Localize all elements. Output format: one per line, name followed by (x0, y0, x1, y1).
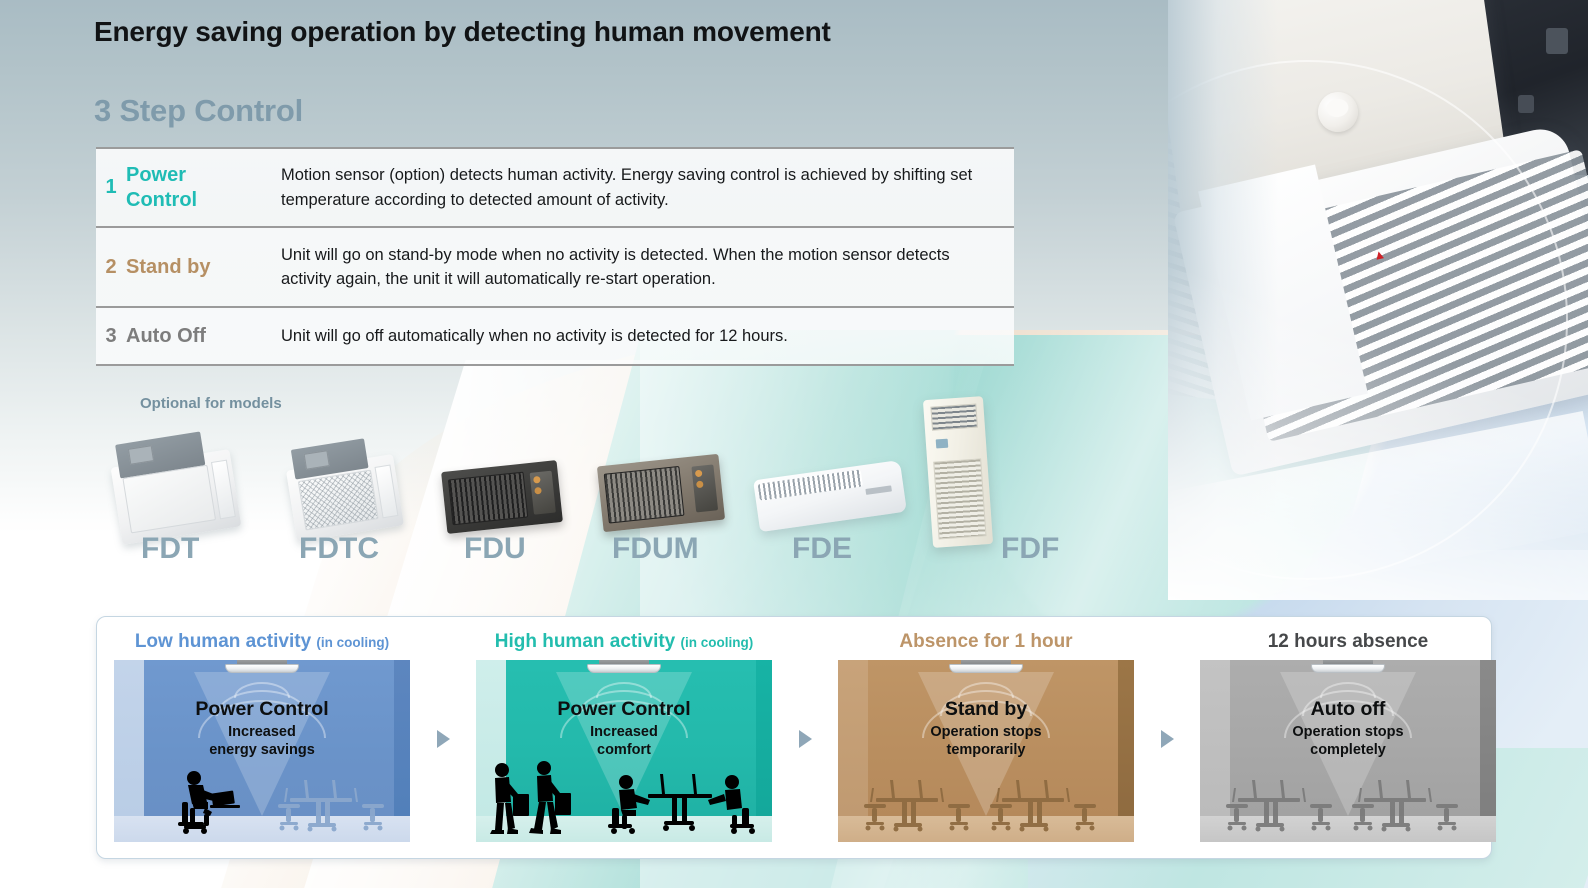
room-labels: Power Control Increased comfort (476, 698, 772, 760)
scenario-heading-note: (in cooling) (681, 635, 754, 650)
room-illustration: Auto off Operation stops completely (1200, 660, 1496, 842)
scenario-heading: Low human activity (in cooling) (97, 617, 427, 653)
unit-fan-grille (448, 472, 528, 526)
scenario-heading-text: Absence for 1 hour (899, 631, 1072, 652)
scenario-heading-text: 12 hours absence (1268, 631, 1429, 652)
scenario-effect-line1: Increased (114, 724, 410, 742)
empty-desks-silhouette-icon (276, 776, 396, 834)
unit-cassette-4way-icon (111, 449, 242, 545)
model-name: FDTC (299, 532, 379, 566)
ceiling-unit-panel (225, 664, 299, 673)
model-name: FDUM (612, 532, 699, 566)
unit-pipe-connections (530, 471, 556, 515)
model-name: FDU (464, 532, 526, 566)
room-labels: Stand by Operation stops temporarily (838, 698, 1134, 760)
model-name: FDF (1001, 532, 1059, 566)
ceiling-cassette-product-photo: ▲ (1168, 0, 1588, 600)
flow-arrow-2 (789, 617, 821, 860)
scenario-heading: Absence for 1 hour (821, 617, 1151, 653)
people-walking-silhouette-icon (484, 760, 594, 836)
room-illustration: Power Control Increased comfort (476, 660, 772, 842)
scenario-mode: Auto off (1200, 698, 1496, 720)
unit-intake-vent (758, 469, 863, 500)
scenario-heading-text: High human activity (495, 631, 676, 652)
arrow-right-icon (799, 730, 812, 748)
unit-floor-standing-icon (923, 396, 993, 548)
empty-desks-silhouette-icon (988, 776, 1108, 834)
scenario-heading-text: Low human activity (135, 631, 311, 652)
table-row: 2 Stand by Unit will go on stand-by mode… (96, 226, 1014, 306)
table-row: 1 Power Control Motion sensor (option) d… (96, 147, 1014, 226)
unit-duct-mid-static-icon (597, 454, 725, 532)
poster-canvas: ▲ Energy saving operation by detecting h… (0, 0, 1588, 888)
step-description: Unit will go off automatically when no a… (281, 324, 1014, 348)
scenario-card-absence-1-hour: Absence for 1 hour (821, 617, 1151, 842)
scenario-card-low-activity: Low human activity (in cooling) (97, 617, 427, 842)
scenario-heading: High human activity (in cooling) (459, 617, 789, 653)
scenario-effect-line2: temporarily (838, 742, 1134, 760)
person-seated-silhouette-icon (172, 768, 248, 834)
scenario-mode: Power Control (476, 698, 772, 720)
empty-desks-silhouette-icon (862, 776, 982, 834)
ceiling-unit-icon (225, 660, 299, 672)
unit-side-vent (375, 464, 399, 518)
scenario-effect-line2: completely (1200, 742, 1496, 760)
photo-vignette (1168, 0, 1588, 600)
step-number: 1 (96, 176, 126, 199)
model-name: FDE (792, 532, 852, 566)
empty-desks-silhouette-icon (1224, 776, 1344, 834)
step-title: Auto Off (126, 324, 281, 348)
people-at-desk-silhouette-icon (604, 768, 756, 836)
room-labels: Auto off Operation stops completely (1200, 698, 1496, 760)
step-title: Stand by (126, 255, 281, 279)
page-title: Energy saving operation by detecting hum… (94, 16, 831, 48)
step-description: Unit will go on stand-by mode when no ac… (281, 243, 1014, 292)
unit-fan-grille (604, 466, 685, 524)
room-illustration: Stand by Operation stops temporarily (838, 660, 1134, 842)
scenario-sequence-panel: Low human activity (in cooling) (96, 616, 1492, 859)
unit-face-panel (122, 465, 216, 534)
room-labels: Power Control Increased energy savings (114, 698, 410, 760)
ceiling-unit-icon (1311, 660, 1385, 672)
scenario-mode: Power Control (114, 698, 410, 720)
compatible-models-strip: FDT FDTC FDU FDUM (96, 400, 1096, 560)
scenario-effect-line2: energy savings (114, 742, 410, 760)
ceiling-unit-panel (949, 664, 1023, 673)
model-name: FDT (141, 532, 199, 566)
scenario-effect-line1: Increased (476, 724, 772, 742)
scenario-effect-line1: Operation stops (1200, 724, 1496, 742)
ceiling-unit-icon (949, 660, 1023, 672)
table-row: 3 Auto Off Unit will go off automaticall… (96, 306, 1014, 366)
unit-brand-mark-icon (865, 485, 892, 495)
step-number: 2 (96, 256, 126, 279)
unit-ceiling-suspended-icon (753, 460, 907, 532)
scenario-effect-line2: comfort (476, 742, 772, 760)
ceiling-unit-panel (1311, 664, 1385, 673)
unit-mesh-filter (298, 470, 379, 531)
room-illustration: Power Control Increased energy savings (114, 660, 410, 842)
three-step-control-table: 1 Power Control Motion sensor (option) d… (96, 147, 1014, 366)
unit-display-icon (936, 439, 949, 449)
empty-desks-silhouette-icon (1350, 776, 1470, 834)
ceiling-unit-icon (587, 660, 661, 672)
scenario-effect-line1: Operation stops (838, 724, 1134, 742)
scenario-card-high-activity: High human activity (in cooling) (459, 617, 789, 842)
flow-arrow-1 (427, 617, 459, 860)
step-description: Motion sensor (option) detects human act… (281, 163, 1014, 212)
page-subtitle: 3 Step Control (94, 93, 303, 129)
unit-duct-high-static-icon (441, 460, 563, 534)
step-title-line2: Control (126, 188, 281, 212)
unit-cassette-compact-icon (286, 454, 404, 542)
scenario-heading-note: (in cooling) (316, 635, 389, 650)
step-title: Power Control (126, 163, 281, 212)
unit-bottom-grille (933, 458, 986, 539)
step-number: 3 (96, 325, 126, 348)
scenario-mode: Stand by (838, 698, 1134, 720)
step-title-line1: Power (126, 163, 281, 187)
unit-top-grille (930, 404, 978, 431)
flow-arrow-3 (1151, 617, 1183, 860)
scenario-heading: 12 hours absence (1183, 617, 1513, 653)
arrow-right-icon (437, 730, 450, 748)
ceiling-unit-panel (587, 664, 661, 673)
scenario-card-12-hours-absence: 12 hours absence (1183, 617, 1513, 842)
unit-pipe-connections (691, 464, 718, 512)
arrow-right-icon (1161, 730, 1174, 748)
